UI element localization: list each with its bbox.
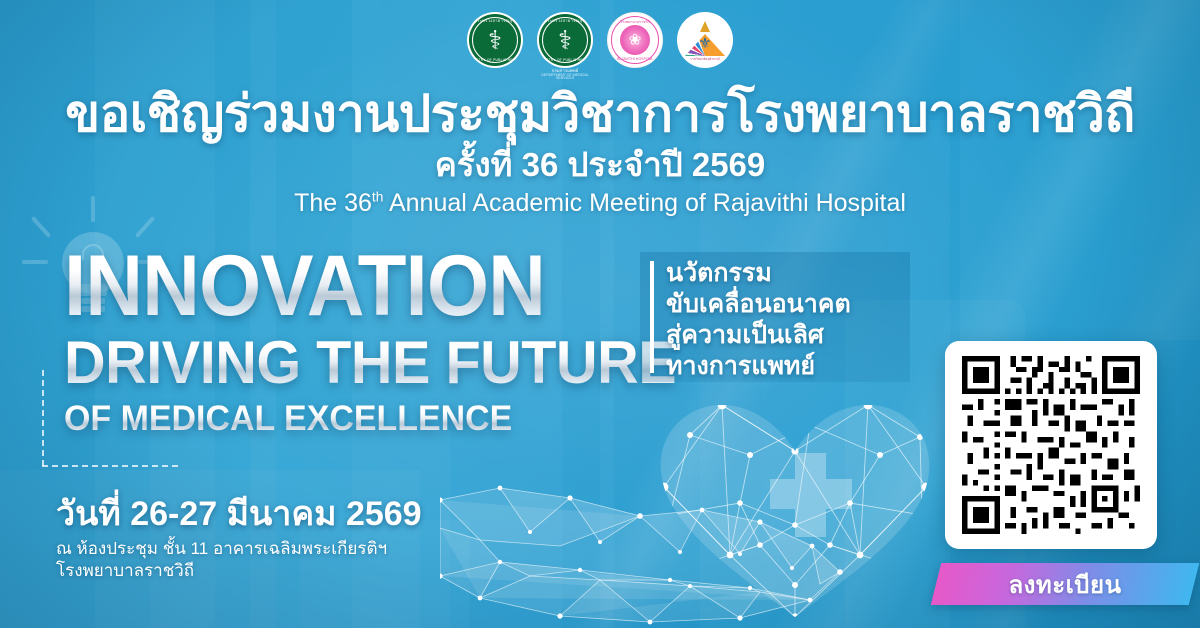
logo-department-of-medical-services: กระทรวงสาธารณสุข ⚕ MINISTRY OF PUBLIC HE… [537,12,593,81]
hero-headline: INNOVATION DRIVING THE FUTURE OF MEDICAL… [64,246,702,438]
theme-panel: นวัตกรรม ขับเคลื่อนอนาคต สู่ความเป็นเลิศ… [640,252,910,382]
dashed-frame-horizontal [42,465,178,467]
header-block: ขอเชิญร่วมงานประชุมวิชาการโรงพยาบาลราชวิ… [0,86,1200,218]
caduceus-icon: ⚕ [488,27,502,53]
qr-code-card[interactable] [945,341,1157,549]
theme-line-4: ทางการแพทย์ [666,351,902,382]
event-date: วันที่ 26-27 มีนาคม 2569 [56,496,422,533]
logo-row: กระทรวงสาธารณสุข ⚕ MINISTRY OF PUBLIC HE… [0,12,1200,81]
event-venue-line-1: ณ ห้องประชุม ชั้น 11 อาคารเฉลิมพระเกียรต… [56,538,422,560]
register-button-label: ลงทะเบียน [936,563,1194,605]
event-title-thai: ขอเชิญร่วมงานประชุมวิชาการโรงพยาบาลราชวิ… [0,86,1200,141]
department-of-medical-services-icon: กระทรวงสาธารณสุข ⚕ MINISTRY OF PUBLIC HE… [537,12,593,68]
logo-rajavithi-hospital: โรงพยาบาลราชวิถี ❀ RAJAVITHI HOSPITAL [607,12,663,69]
logo-royal-emblem: ⚜ ราชวิทยาลัยจุฬาภรณ์ [677,12,733,69]
event-poster: กระทรวงสาธารณสุข ⚕ MINISTRY OF PUBLIC HE… [0,0,1200,628]
hero-line-1: INNOVATION [64,246,657,327]
rajavithi-hospital-icon: โรงพยาบาลราชวิถี ❀ RAJAVITHI HOSPITAL [607,12,663,68]
register-button[interactable]: ลงทะเบียน [931,563,1199,605]
logo-arc-bottom: MINISTRY OF PUBLIC HEALTH [537,58,593,62]
theme-lines: นวัตกรรม ขับเคลื่อนอนาคต สู่ความเป็นเลิศ… [666,258,902,382]
ordinal-suffix: th [372,190,383,205]
theme-line-3: สู่ความเป็นเลิศ [666,320,902,351]
event-venue: ณ ห้องประชุม ชั้น 11 อาคารเฉลิมพระเกียรต… [56,538,422,582]
emblem-figure-icon: ⚜ [698,36,711,51]
logo-arc-top: กระทรวงสาธารณสุข [467,17,523,24]
event-edition-thai: ครั้งที่ 36 ประจำปี 2569 [0,147,1200,183]
logo-arc-bottom: MINISTRY OF PUBLIC HEALTH [467,58,523,62]
theme-accent-bar [650,261,654,373]
theme-line-1: นวัตกรรม [666,258,902,289]
event-title-english-pre: The 36 [294,189,372,217]
royal-emblem-icon: ⚜ ราชวิทยาลัยจุฬาภรณ์ [677,12,733,68]
caduceus-icon: ⚕ [558,27,572,53]
logo-arc-top: กระทรวงสาธารณสุข [537,17,593,24]
theme-line-2: ขับเคลื่อนอนาคต [666,289,902,320]
logo-ministry-of-public-health: กระทรวงสาธารณสุข ⚕ MINISTRY OF PUBLIC HE… [467,12,523,69]
logo-arc-bottom: RAJAVITHI HOSPITAL [608,57,662,61]
ministry-of-public-health-icon: กระทรวงสาธารณสุข ⚕ MINISTRY OF PUBLIC HE… [467,12,523,68]
dashed-frame-vertical [42,370,44,466]
hero-line-3: OF MEDICAL EXCELLENCE [64,401,683,438]
logo-arc-bottom: ราชวิทยาลัยจุฬาภรณ์ [677,57,733,62]
logo-caption: กรมการแพทย์ DEPARTMENT OF MEDICAL SERVIC… [537,69,593,81]
event-venue-line-2: โรงพยาบาลราชวิถี [56,560,422,582]
emblem-figure-icon: ❀ [629,33,642,48]
event-date-block: วันที่ 26-27 มีนาคม 2569 ณ ห้องประชุม ชั… [56,496,422,582]
hero-line-2: DRIVING THE FUTURE [64,333,676,393]
event-title-english: The 36th Annual Academic Meeting of Raja… [0,189,1200,218]
qr-code-icon[interactable] [962,356,1140,534]
event-title-english-post: Annual Academic Meeting of Rajavithi Hos… [383,189,906,217]
